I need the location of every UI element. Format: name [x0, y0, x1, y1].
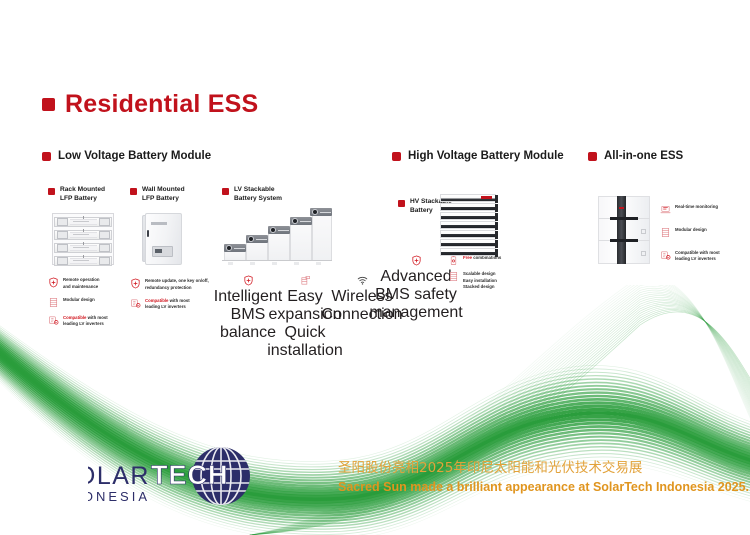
group-label-all-in-one: All-in-one ESS — [604, 150, 683, 162]
product-lv-stackable-image — [222, 207, 384, 265]
product-rack-name: Rack Mounted LFP Battery — [60, 186, 105, 203]
product-rack-header: Rack Mounted LFP Battery — [48, 186, 136, 203]
modular-stack-icon — [448, 271, 459, 282]
product-wall-header: Wall Mounted LFP Battery — [130, 186, 222, 203]
feature-item: Real-time monitoring — [660, 204, 738, 215]
shield-plus-icon — [411, 255, 422, 266]
bullet-icon — [392, 152, 401, 161]
product-wall-name: Wall Mounted LFP Battery — [142, 186, 185, 203]
feature-item: Modular design — [660, 227, 738, 238]
feature-text: Modular design — [675, 227, 707, 233]
logo-solar-text: SOLAR — [88, 462, 150, 490]
inverter-icon — [660, 250, 671, 261]
feature-text: Real-time monitoring — [675, 204, 718, 210]
laptop-monitor-icon — [660, 204, 671, 215]
product-lv-stackable-name: LV Stackable Battery System — [234, 186, 282, 203]
product-all-in-one-image — [598, 196, 650, 264]
logo-tech-text: TECH — [151, 460, 229, 490]
product-all-in-one-features: Real-time monitoring Modular design Comp… — [660, 204, 738, 262]
bullet-icon — [130, 188, 137, 195]
logo-country-text: INDONESIA — [88, 489, 150, 504]
page-title: Residential ESS — [42, 92, 258, 117]
product-lv-stackable-header: LV Stackable Battery System — [222, 186, 384, 203]
caption-chinese: 圣阳股份亮相2025年印尼太阳能和光伏技术交易展 — [338, 458, 738, 478]
feature-item: Compatible with most leading LV inverter… — [660, 250, 738, 262]
group-heading-all-in-one: All-in-one ESS — [588, 150, 683, 162]
bullet-icon — [222, 188, 229, 195]
feature-highlight: Free — [463, 255, 472, 260]
product-rack-image — [52, 213, 136, 265]
page-title-label: Residential ESS — [65, 92, 258, 117]
modular-stack-icon — [660, 227, 671, 238]
title-bullet-icon — [42, 98, 55, 111]
bullet-icon — [42, 152, 51, 161]
feature-text: Compatible with most leading LV inverter… — [675, 250, 720, 262]
feature-item: Free combinations — [448, 255, 501, 266]
bullet-icon — [588, 152, 597, 161]
group-label-high-voltage: High Voltage Battery Module — [408, 150, 564, 162]
product-hv-image — [440, 194, 496, 256]
bullet-icon — [398, 200, 405, 207]
battery-lock-icon — [448, 255, 459, 266]
product-all-in-one: Real-time monitoring Modular design Comp… — [598, 196, 738, 262]
slide-canvas: Residential ESS Low Voltage Battery Modu… — [0, 0, 750, 535]
footer-caption: 圣阳股份亮相2025年印尼太阳能和光伏技术交易展 Sacred Sun made… — [338, 458, 738, 497]
product-wall-image — [142, 213, 222, 265]
bullet-icon — [48, 188, 55, 195]
solartech-logo: SOLAR TECH INDONESIA — [88, 446, 283, 508]
group-heading-high-voltage: High Voltage Battery Module — [392, 150, 564, 162]
group-label-low-voltage: Low Voltage Battery Module — [58, 150, 211, 162]
caption-english: Sacred Sun made a brilliant appearance a… — [338, 478, 738, 497]
group-heading-low-voltage: Low Voltage Battery Module — [42, 150, 211, 162]
